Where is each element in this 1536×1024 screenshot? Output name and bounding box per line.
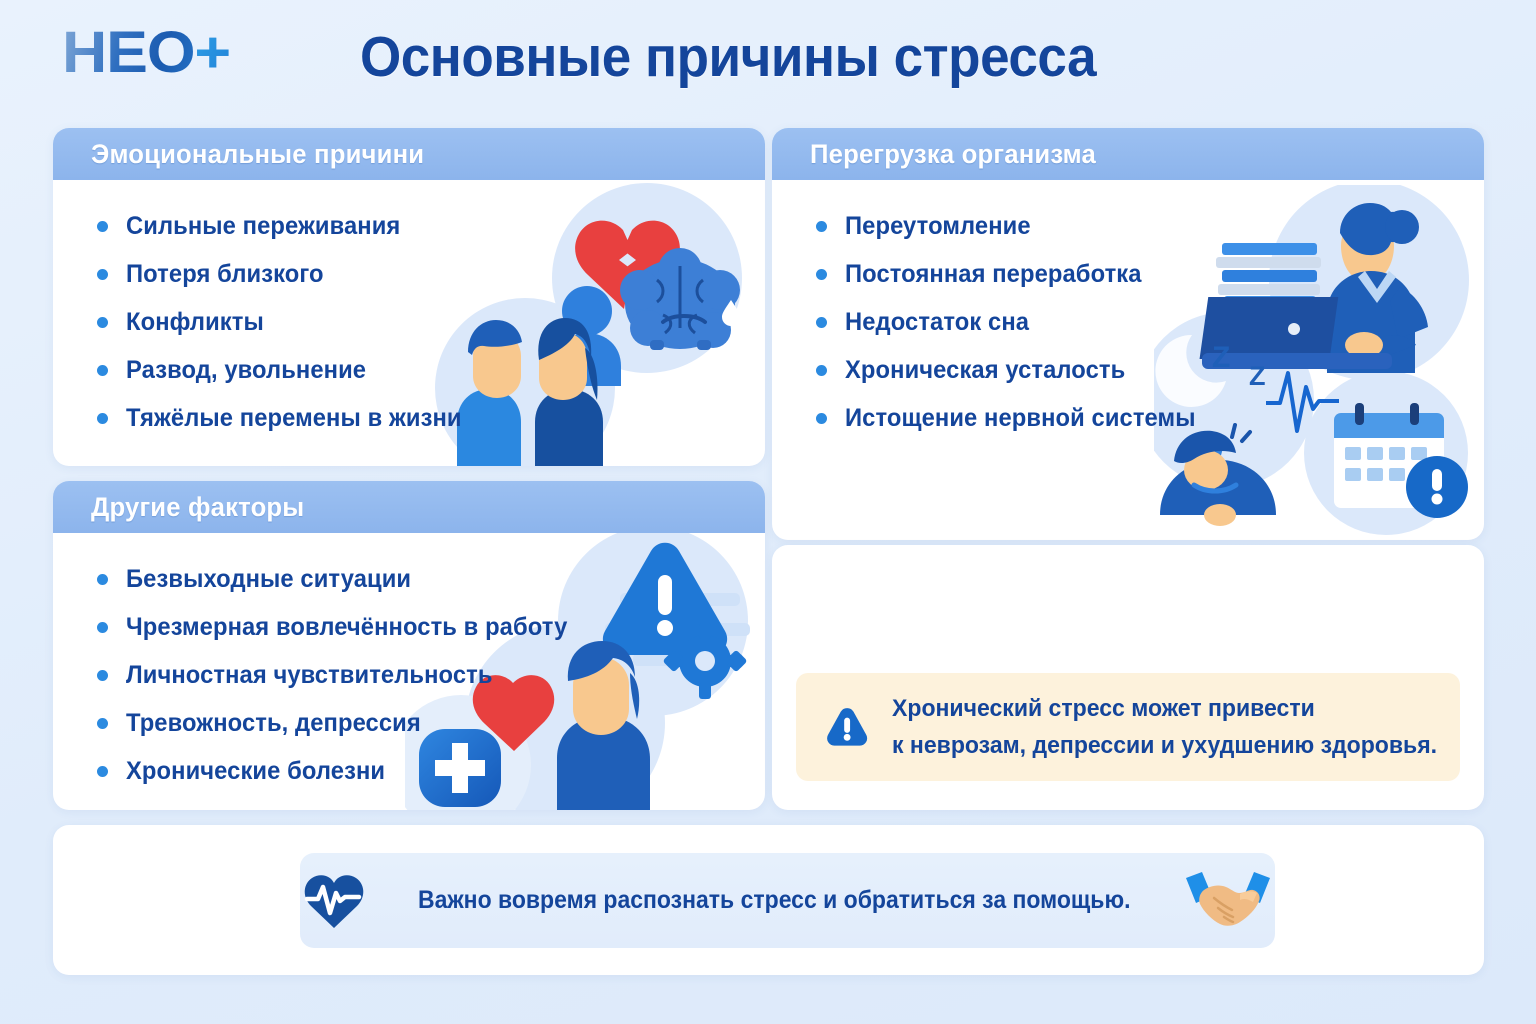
list-overload-causes: Переутомление Постоянная переработка Нед… (772, 180, 1484, 442)
card-title-other: Другие факторы (91, 492, 304, 523)
card-other-factors: Другие факторы (53, 481, 765, 810)
bullet-icon (816, 413, 827, 424)
footer-text: Важно вовремя распознать стресс и обрати… (418, 886, 1130, 915)
card-body-overload-inner: Z Z (772, 180, 1484, 540)
heart-pulse-icon (303, 872, 365, 930)
brand-logo: HEO+ (62, 24, 230, 82)
card-header-overload: Перегрузка организма (772, 128, 1484, 180)
bullet-icon (816, 221, 827, 232)
page-header: HEO+ Основные причины стресса (0, 0, 1536, 118)
list-item: Конфликты (97, 298, 765, 346)
list-item: Личностная чувствительность (97, 651, 765, 699)
list-item: Постоянная переработка (816, 250, 1484, 298)
card-title-overload: Перегрузка организма (810, 139, 1096, 170)
bullet-icon (816, 365, 827, 376)
page-title: Основные причины стресса (360, 24, 1104, 90)
list-item-label: Хроническая усталость (845, 356, 1125, 385)
list-item: Развод, увольнение (97, 346, 765, 394)
logo-plus-icon: + (195, 20, 231, 85)
list-item: Тревожность, депрессия (97, 699, 765, 747)
card-header-other: Другие факторы (53, 481, 765, 533)
list-item-label: Безвыходные ситуации (126, 565, 411, 594)
bullet-icon (97, 365, 108, 376)
list-item-label: Истощение нервной системы (845, 404, 1196, 433)
list-item-label: Хронические болезни (126, 757, 385, 786)
warning-callout-text: Хронический стресс может привести к невр… (892, 690, 1437, 764)
card-emotional-causes: Эмоциональные причини (53, 128, 765, 466)
warning-line-1: Хронический стресс может привести (892, 690, 1437, 727)
handshake-icon (1184, 868, 1272, 934)
bullet-icon (97, 221, 108, 232)
list-item-label: Постоянная переработка (845, 260, 1142, 289)
list-item: Хроническая усталость (816, 346, 1484, 394)
list-item: Переутомление (816, 202, 1484, 250)
bullet-icon (97, 413, 108, 424)
list-item: Хронические болезни (97, 747, 765, 795)
list-item: Сильные переживания (97, 202, 765, 250)
list-item: Истощение нервной системы (816, 394, 1484, 442)
list-item-label: Потеря близкого (126, 260, 324, 289)
bullet-icon (816, 317, 827, 328)
bullet-icon (97, 718, 108, 729)
bullet-icon (97, 269, 108, 280)
list-item: Чрезмерная вовлечённость в работу (97, 603, 765, 651)
bullet-icon (97, 317, 108, 328)
card-body-overload: Перегрузка организма (772, 128, 1484, 540)
card-footer: Важно вовремя распознать стресс и обрати… (53, 825, 1484, 975)
list-item: Потеря близкого (97, 250, 765, 298)
bullet-icon (816, 269, 827, 280)
bullet-icon (97, 766, 108, 777)
card-body-emotional: Сильные переживания Потеря близкого Конф… (53, 180, 765, 466)
list-item: Тяжёлые перемены в жизни (97, 394, 765, 442)
list-item: Недостаток сна (816, 298, 1484, 346)
warning-triangle-icon (826, 688, 868, 766)
footer-banner: Важно вовремя распознать стресс и обрати… (300, 853, 1275, 948)
list-item-label: Переутомление (845, 212, 1031, 241)
bullet-icon (97, 574, 108, 585)
card-title-emotional: Эмоциональные причини (91, 139, 424, 170)
list-emotional-causes: Сильные переживания Потеря близкого Конф… (53, 180, 765, 442)
card-header-emotional: Эмоциональные причини (53, 128, 765, 180)
list-item-label: Конфликты (126, 308, 264, 337)
list-other-factors: Безвыходные ситуации Чрезмерная вовлечён… (53, 533, 765, 795)
card-warning-container: Хронический стресс может привести к невр… (772, 545, 1484, 810)
bullet-icon (97, 622, 108, 633)
list-item-label: Тревожность, депрессия (126, 709, 421, 738)
logo-wordmark: HEO (62, 20, 195, 85)
warning-line-2: к неврозам, депрессии и ухудшению здоров… (892, 727, 1437, 764)
list-item-label: Личностная чувствительность (126, 661, 493, 690)
list-item-label: Чрезмерная вовлечённость в работу (126, 613, 567, 642)
bullet-icon (97, 670, 108, 681)
list-item-label: Недостаток сна (845, 308, 1029, 337)
card-body-other: Безвыходные ситуации Чрезмерная вовлечён… (53, 533, 765, 810)
list-item: Безвыходные ситуации (97, 555, 765, 603)
list-item-label: Сильные переживания (126, 212, 400, 241)
list-item-label: Тяжёлые перемены в жизни (126, 404, 462, 433)
warning-callout: Хронический стресс может привести к невр… (796, 673, 1460, 781)
list-item-label: Развод, увольнение (126, 356, 366, 385)
